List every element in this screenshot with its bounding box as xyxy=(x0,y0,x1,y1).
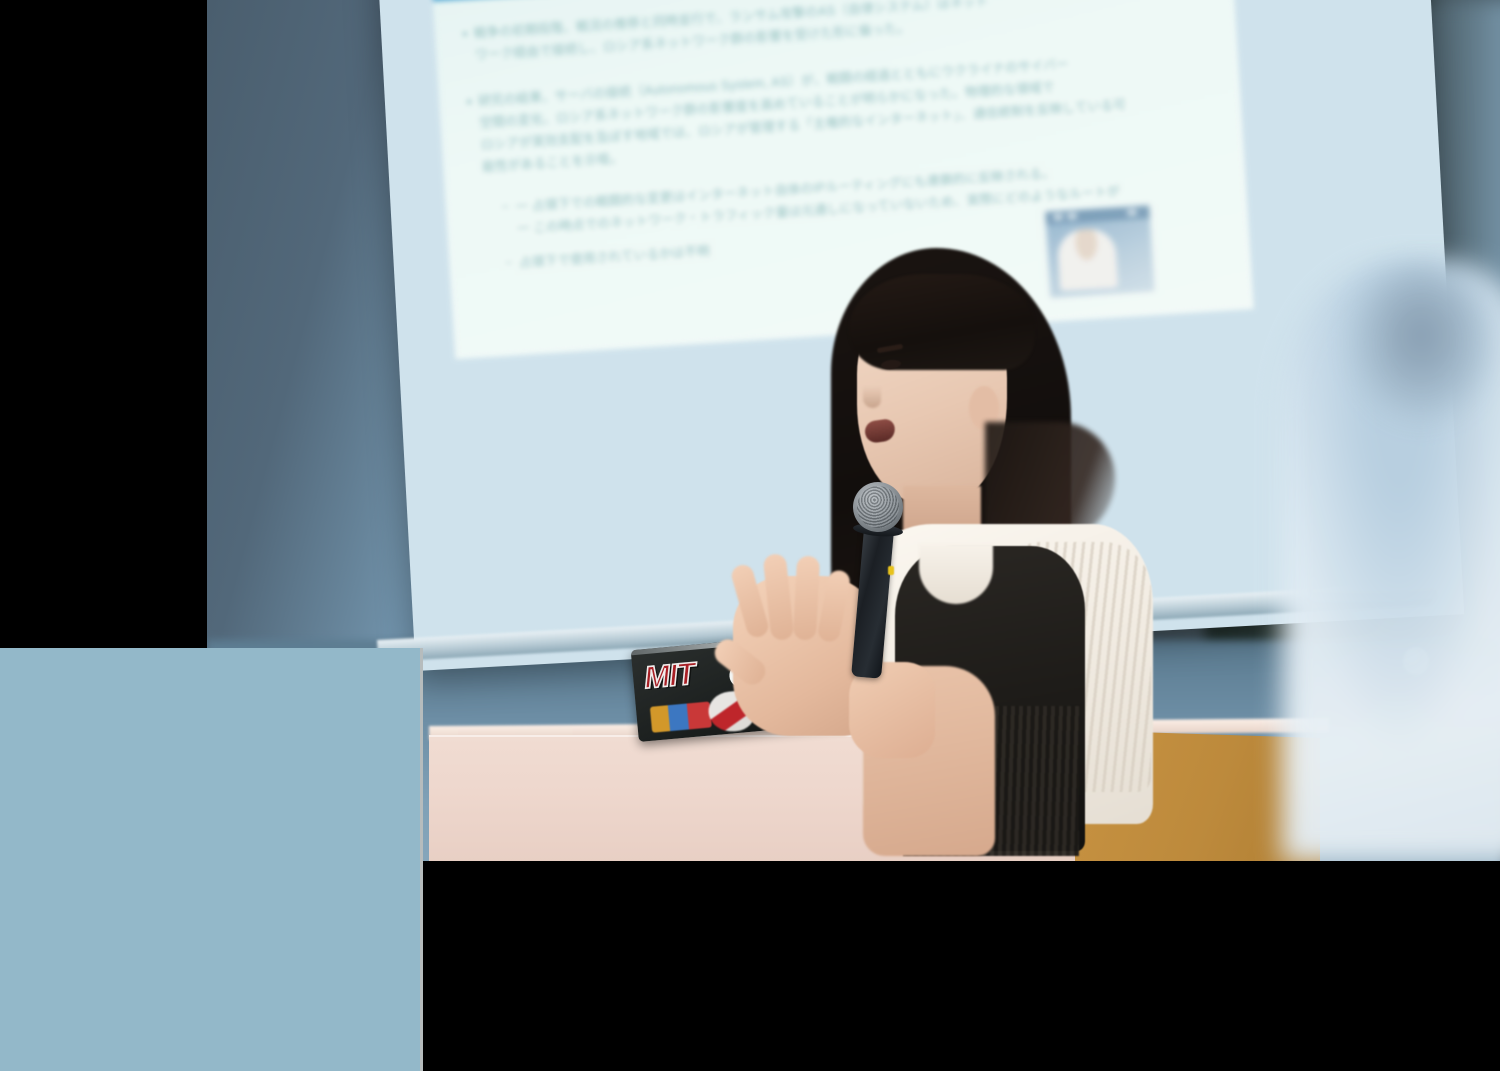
slide-bullet-4-line-1: 占領下で使用されているかは不明 xyxy=(519,241,711,275)
screenshot-root: ケース研究①：ロシア・ウクライナ 戦争の初期段階、戦況の推移と同時並行で、ランサ… xyxy=(0,0,1500,1071)
letterbox-bottom xyxy=(423,861,1500,1071)
finger xyxy=(793,555,820,640)
mit-sticker: MIT xyxy=(643,656,696,696)
video-tile-mute-icon xyxy=(1127,209,1136,216)
speaker-nose xyxy=(863,386,881,408)
video-tile-badge-icon xyxy=(1067,213,1076,220)
flag-sticker xyxy=(650,701,712,732)
video-tile-badge-icon xyxy=(1053,214,1062,221)
speaker-bangs xyxy=(849,274,1035,370)
foreground-attendee-head xyxy=(1355,268,1487,418)
overlay-panel[interactable] xyxy=(0,648,423,1071)
letterbox-left xyxy=(0,0,207,648)
bullet-dot-icon xyxy=(463,32,467,36)
microphone-led-indicator xyxy=(888,566,894,575)
bullet-dot-icon xyxy=(467,100,471,104)
speaker-person xyxy=(753,236,1173,861)
finger xyxy=(816,569,851,644)
dash-marker-icon: – xyxy=(501,199,510,242)
microphone-mesh xyxy=(855,484,901,530)
dash-marker-icon: – xyxy=(505,254,513,275)
